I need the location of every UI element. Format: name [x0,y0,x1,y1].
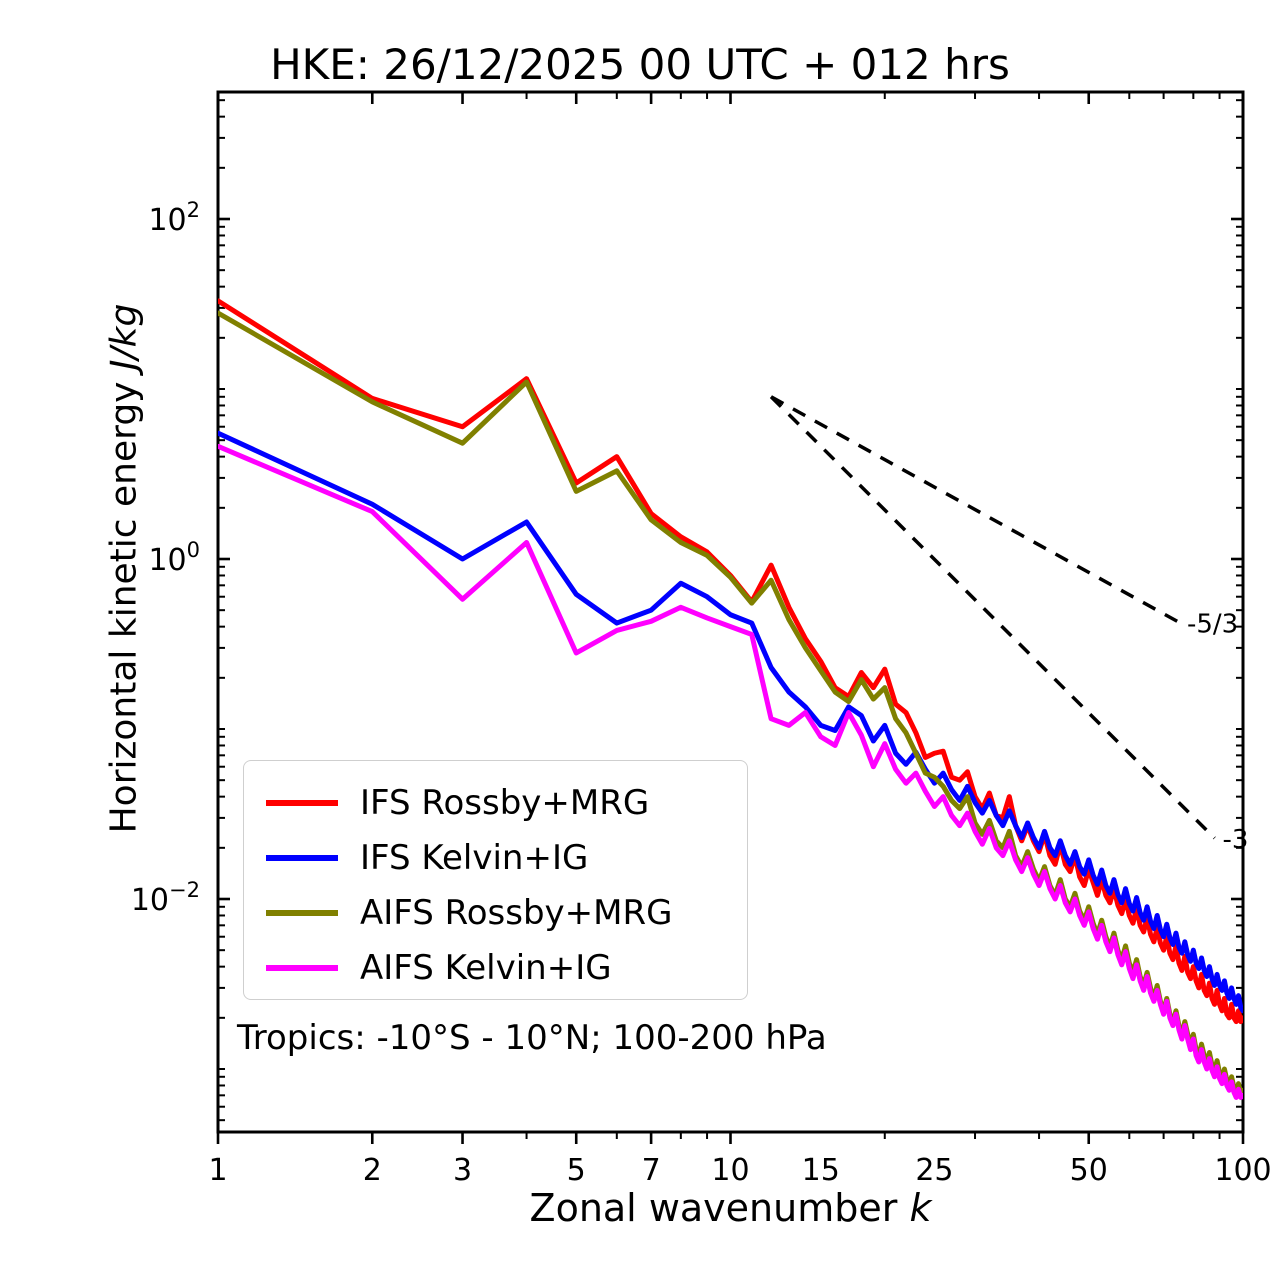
y-tick-label: 100 [148,538,200,578]
legend-swatch-aifs-rossby-mrg [266,910,338,916]
legend-label-aifs-kelvin-ig: AIFS Kelvin+IG [360,951,612,985]
x-tick-label: 3 [453,1153,472,1188]
x-tick-label: 5 [567,1153,586,1188]
chart-root: HKE: 26/12/2025 00 UTC + 012 hrs Horizon… [0,0,1280,1288]
legend-item: IFS Rossby+MRG [244,775,747,830]
legend-item: AIFS Kelvin+IG [244,940,747,995]
x-tick-label: 7 [642,1153,661,1188]
x-tick-label: 2 [363,1153,382,1188]
plot-canvas: 1235710152550100 10210010−2 -5/3-3 [0,0,1280,1288]
x-tick-label: 10 [711,1153,749,1188]
x-tick-label: 100 [1214,1153,1271,1188]
legend-item: IFS Kelvin+IG [244,830,747,885]
slope-label: -5/3 [1187,609,1238,639]
legend-swatch-ifs-kelvin-ig [266,855,338,861]
legend: IFS Rossby+MRG IFS Kelvin+IG AIFS Rossby… [243,760,748,1000]
region-annotation: Tropics: -10°S - 10°N; 100-200 hPa [237,1018,827,1058]
y-tick-label: 102 [148,198,200,238]
x-tick-label: 50 [1070,1153,1108,1188]
legend-label-ifs-rossby-mrg: IFS Rossby+MRG [360,786,649,820]
legend-swatch-aifs-kelvin-ig [266,965,338,971]
legend-label-aifs-rossby-mrg: AIFS Rossby+MRG [360,896,672,930]
x-tick-label: 15 [802,1153,840,1188]
x-tick-label: 1 [208,1153,227,1188]
legend-label-ifs-kelvin-ig: IFS Kelvin+IG [360,841,588,875]
legend-swatch-ifs-rossby-mrg [266,800,338,806]
y-tick-label: 10−2 [131,878,200,918]
legend-item: AIFS Rossby+MRG [244,885,747,940]
slope-label: -3 [1223,825,1249,855]
x-tick-label: 25 [915,1153,953,1188]
